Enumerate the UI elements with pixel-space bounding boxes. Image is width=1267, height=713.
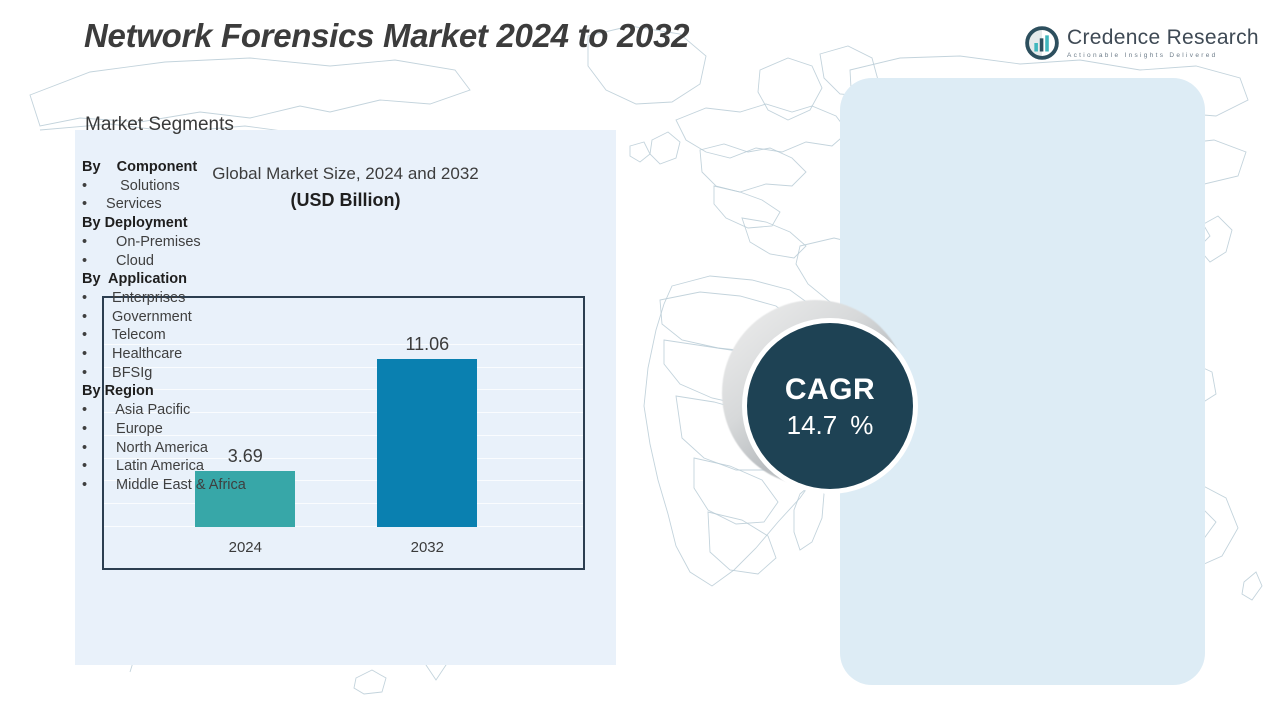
segment-item-label: Asia Pacific <box>108 401 190 420</box>
brand-tagline: Actionable Insights Delivered <box>1067 52 1259 59</box>
segment-item-label: Telecom <box>108 326 166 345</box>
segment-item-label: BFSIg <box>108 364 152 383</box>
bar-2032[interactable] <box>377 359 477 527</box>
bullet-icon: • <box>82 177 108 196</box>
bullet-icon: • <box>82 326 108 345</box>
segment-list-item[interactable]: • Solutions <box>82 177 352 196</box>
segment-list-item[interactable]: • Telecom <box>82 326 352 345</box>
brand-name: Credence Research <box>1067 27 1259 49</box>
segment-list-item[interactable]: • Middle East & Africa <box>82 476 352 495</box>
bar-group-2032: 11.06 <box>377 359 477 527</box>
segment-list-item[interactable]: • Cloud <box>82 252 352 271</box>
segment-list-item[interactable]: • Enterprises <box>82 289 352 308</box>
segment-item-label: Solutions <box>108 177 180 196</box>
segment-group-heading: By Application <box>82 270 352 289</box>
segment-list-item[interactable]: • Europe <box>82 420 352 439</box>
bullet-icon: • <box>82 457 108 476</box>
segments-heading: Market Segments <box>85 114 234 136</box>
bullet-icon: • <box>82 420 108 439</box>
segment-item-label: Europe <box>108 420 163 439</box>
bullet-icon: • <box>82 252 108 271</box>
bar-chart-circle-icon <box>1025 26 1059 60</box>
cagr-label: CAGR <box>785 375 875 405</box>
cagr-circle: CAGR 14.7 % <box>747 323 913 489</box>
cagr-value: 14.7 <box>787 412 838 438</box>
segment-item-label: Cloud <box>108 252 154 271</box>
segment-list-item[interactable]: • Services <box>82 195 352 214</box>
segment-item-label: Latin America <box>108 457 204 476</box>
bullet-icon: • <box>82 195 102 214</box>
bullet-icon: • <box>82 289 108 308</box>
cagr-percent-symbol: % <box>850 412 873 438</box>
segment-item-label: North America <box>108 439 208 458</box>
segment-list-item[interactable]: • Asia Pacific <box>82 401 352 420</box>
segment-list-item[interactable]: • Latin America <box>82 457 352 476</box>
segment-item-label: Services <box>102 195 162 214</box>
segment-item-label: Healthcare <box>108 345 182 364</box>
bullet-icon: • <box>82 439 108 458</box>
bullet-icon: • <box>82 345 108 364</box>
bullet-icon: • <box>82 364 108 383</box>
bar-label-2024: 2024 <box>229 539 262 556</box>
bullet-icon: • <box>82 401 108 420</box>
segments-list: By Component• Solutions• ServicesBy Depl… <box>82 158 352 495</box>
cagr-badge: CAGR 14.7 % <box>722 300 922 500</box>
segment-item-label: Government <box>108 308 192 327</box>
segment-item-label: On-Premises <box>108 233 201 252</box>
segment-list-item[interactable]: • Government <box>82 308 352 327</box>
segment-list-item[interactable]: • North America <box>82 439 352 458</box>
bar-value-2032: 11.06 <box>405 334 449 355</box>
segment-list-item[interactable]: • BFSIg <box>82 364 352 383</box>
segment-item-label: Middle East & Africa <box>108 476 246 495</box>
segment-list-item[interactable]: • On-Premises <box>82 233 352 252</box>
segment-group-heading: By Component <box>82 158 352 177</box>
brand-logo[interactable]: Credence Research Actionable Insights De… <box>1025 26 1259 60</box>
segment-group-heading: By Deployment <box>82 214 352 233</box>
page-title: Network Forensics Market 2024 to 2032 <box>84 17 689 55</box>
bullet-icon: • <box>82 308 108 327</box>
bullet-icon: • <box>82 476 108 495</box>
segment-group-heading: By Region <box>82 382 352 401</box>
segment-item-label: Enterprises <box>108 289 185 308</box>
segment-list-item[interactable]: • Healthcare <box>82 345 352 364</box>
bar-label-2032: 2032 <box>411 539 444 556</box>
brand-text: Credence Research Actionable Insights De… <box>1067 27 1259 58</box>
cagr-value-row: 14.7 % <box>787 412 874 438</box>
bullet-icon: • <box>82 233 108 252</box>
